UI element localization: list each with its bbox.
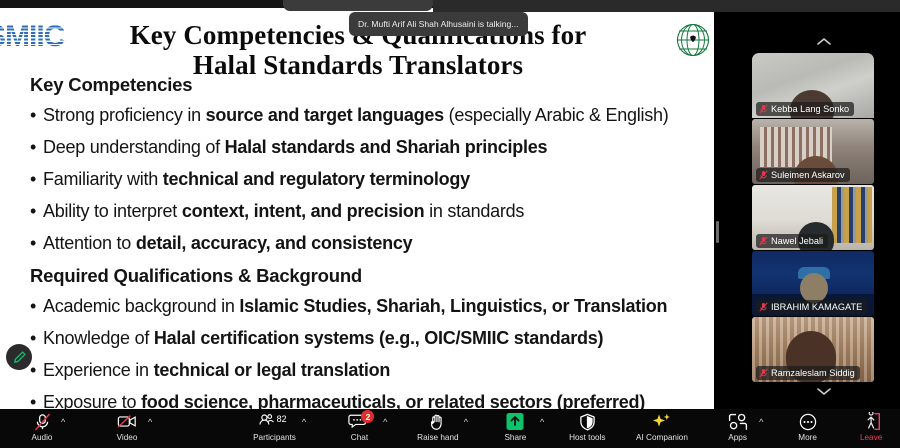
mic-muted-icon xyxy=(759,368,768,378)
slide-bullet: •Academic background in Islamic Studies,… xyxy=(30,296,714,317)
bullet-text: Deep understanding of xyxy=(43,137,225,157)
share-gutter xyxy=(714,8,747,409)
camera-off-icon xyxy=(117,412,137,431)
slide-bullet: •Familiarity with technical and regulato… xyxy=(30,169,714,190)
toolbar-button-host-tools[interactable]: Host tools xyxy=(553,409,622,448)
participant-name-badge: Ramzaleslam Siddig xyxy=(756,366,860,380)
participant-name-badge: IBRAHIM KAMAGATE xyxy=(756,300,867,314)
slide-section-heading-2: Required Qualifications & Background xyxy=(30,265,714,286)
slide-bullet: •Deep understanding of Halal standards a… xyxy=(30,137,714,158)
share-scrollbar[interactable] xyxy=(716,221,719,243)
presentation-slide: SMIIC Key Competencies & Qualifications … xyxy=(0,8,714,409)
participants-icon: 82 xyxy=(258,412,290,431)
bullet-emphasis: technical and regulatory terminology xyxy=(163,169,470,189)
participant-name-badge: Kebba Lang Sonko xyxy=(756,102,854,116)
shared-screen-area: SMIIC Key Competencies & Qualifications … xyxy=(0,8,747,409)
participant-tile[interactable]: IBRAHIM KAMAGATE xyxy=(752,251,874,316)
participant-name: Kebba Lang Sonko xyxy=(771,104,849,114)
participant-name-badge: Suleimen Askarov xyxy=(756,168,850,182)
chat-unread-badge: 2 xyxy=(361,410,374,423)
annotate-pencil-icon[interactable] xyxy=(6,344,32,370)
toolbar-label-ai-companion: AI Companion xyxy=(636,433,688,442)
sparkles-icon xyxy=(651,412,672,431)
oic-emblem-icon xyxy=(668,17,714,63)
raise-hand-icon xyxy=(429,412,446,431)
bullet-marker: • xyxy=(30,328,43,349)
bullet-text: Exposure to xyxy=(43,392,141,409)
toolbar-button-raise-hand[interactable]: Raise hand ^ xyxy=(398,409,478,448)
mic-muted-icon xyxy=(759,170,768,180)
participant-name: Ramzaleslam Siddig xyxy=(771,368,855,378)
bullet-emphasis: source and target languages xyxy=(206,105,444,125)
participant-name: Nawel Jebali xyxy=(771,236,823,246)
smiic-logo-text: SMIIC xyxy=(0,22,64,52)
slide-body: Key Competencies •Strong proficiency in … xyxy=(30,74,714,409)
toolbar-button-more[interactable]: More xyxy=(773,409,842,448)
participant-video-strip: Kebba Lang Sonko Suleimen Askarov xyxy=(747,8,900,409)
bullet-text-tail: in standards xyxy=(424,201,524,221)
bullet-marker: • xyxy=(30,392,43,409)
toolbar-label-apps: Apps xyxy=(728,433,747,442)
toolbar-button-participants[interactable]: 82 Participants ^ xyxy=(228,409,321,448)
participant-tile[interactable]: Nawel Jebali xyxy=(752,185,874,250)
bullet-emphasis: Halal standards and Shariah principles xyxy=(225,137,548,157)
raise-hand-caret-icon[interactable]: ^ xyxy=(464,417,468,427)
bullet-text: Knowledge of xyxy=(43,328,154,348)
participants-caret-icon[interactable]: ^ xyxy=(302,417,306,427)
participant-tile[interactable]: Ramzaleslam Siddig xyxy=(752,317,874,382)
slide-bullet: •Ability to interpret context, intent, a… xyxy=(30,201,714,222)
bullet-emphasis: detail, accuracy, and consistency xyxy=(136,233,413,253)
meeting-toolbar: Audio ^ Video ^ xyxy=(0,409,900,448)
slide-bullet: •Experience in technical or legal transl… xyxy=(30,360,714,381)
video-caret-icon[interactable]: ^ xyxy=(148,417,152,427)
toolbar-label-more: More xyxy=(798,433,817,442)
mic-muted-icon xyxy=(34,412,51,431)
bullet-marker: • xyxy=(30,105,43,126)
bullet-marker: • xyxy=(30,169,43,190)
apps-icon xyxy=(728,412,748,431)
mic-muted-icon xyxy=(759,236,768,246)
svg-text:82: 82 xyxy=(277,414,287,424)
active-speaker-tooltip: Dr. Mufti Arif Ali Shah Alhusaini is tal… xyxy=(349,12,528,36)
participant-name: Suleimen Askarov xyxy=(771,170,845,180)
participant-name-badge: Nawel Jebali xyxy=(756,234,828,248)
toolbar-button-apps[interactable]: Apps ^ xyxy=(702,409,773,448)
toolbar-button-ai-companion[interactable]: AI Companion xyxy=(622,409,702,448)
toolbar-button-chat[interactable]: 2 Chat ^ xyxy=(321,409,398,448)
participant-tile[interactable]: Suleimen Askarov xyxy=(752,119,874,184)
participant-tile[interactable]: Kebba Lang Sonko xyxy=(752,53,874,118)
slide-bullet: •Strong proficiency in source and target… xyxy=(30,105,714,126)
more-ellipsis-icon xyxy=(799,412,817,431)
toolbar-label-audio: Audio xyxy=(32,433,53,442)
bullet-text: Academic background in xyxy=(43,296,239,316)
share-screen-icon xyxy=(505,412,525,431)
mic-muted-icon xyxy=(759,302,768,312)
share-caret-icon[interactable]: ^ xyxy=(540,417,544,427)
toolbar-button-video[interactable]: Video ^ xyxy=(84,409,170,448)
chat-caret-icon[interactable]: ^ xyxy=(383,417,387,427)
bullet-marker: • xyxy=(30,201,43,222)
bullet-emphasis: Halal certification systems (e.g., OIC/S… xyxy=(154,328,603,348)
slide-bullet: •Knowledge of Halal certification system… xyxy=(30,328,714,349)
toolbar-button-audio[interactable]: Audio ^ xyxy=(0,409,84,448)
bullet-marker: • xyxy=(30,296,43,317)
bullet-text: Ability to interpret xyxy=(43,201,182,221)
apps-caret-icon[interactable]: ^ xyxy=(759,417,763,427)
bullet-text: Strong proficiency in xyxy=(43,105,206,125)
bullet-marker: • xyxy=(30,137,43,158)
slide-bullet: •Attention to detail, accuracy, and cons… xyxy=(30,233,714,254)
toolbar-label-participants: Participants xyxy=(253,433,296,442)
toolbar-button-share[interactable]: Share ^ xyxy=(478,409,553,448)
bullet-text-tail: (especially Arabic & English) xyxy=(444,105,669,125)
audio-caret-icon[interactable]: ^ xyxy=(61,417,65,427)
bullet-text: Attention to xyxy=(43,233,136,253)
bullet-emphasis: Islamic Studies, Shariah, Linguistics, o… xyxy=(239,296,667,316)
toolbar-label-leave: Leave xyxy=(860,433,882,442)
strip-scroll-down-button[interactable] xyxy=(747,380,900,402)
participant-name: IBRAHIM KAMAGATE xyxy=(771,302,862,312)
top-strip-left xyxy=(0,0,283,8)
leave-door-icon xyxy=(862,412,881,431)
bullet-emphasis: food science, pharmaceuticals, or relate… xyxy=(141,392,645,409)
toolbar-label-chat: Chat xyxy=(351,433,368,442)
bullet-marker: • xyxy=(30,360,43,381)
bullet-text: Experience in xyxy=(43,360,154,380)
bullet-emphasis: context, intent, and precision xyxy=(182,201,425,221)
toolbar-label-video: Video xyxy=(117,433,138,442)
slide-bullet: •Exposure to food science, pharmaceutica… xyxy=(30,392,714,409)
active-speaker-tooltip-text: Dr. Mufti Arif Ali Shah Alhusaini is tal… xyxy=(358,19,519,29)
shield-icon xyxy=(579,412,596,431)
top-strip-right xyxy=(433,0,900,12)
mic-muted-icon xyxy=(759,104,768,114)
bullet-emphasis: technical or legal translation xyxy=(154,360,391,380)
toolbar-button-leave[interactable]: Leave xyxy=(842,409,900,448)
collapsed-meeting-controls-pill[interactable] xyxy=(283,0,433,11)
chat-icon: 2 xyxy=(348,412,370,431)
bullet-text: Familiarity with xyxy=(43,169,163,189)
toolbar-label-host-tools: Host tools xyxy=(569,433,605,442)
toolbar-label-share: Share xyxy=(504,433,526,442)
bullet-marker: • xyxy=(30,233,43,254)
participant-tiles: Kebba Lang Sonko Suleimen Askarov xyxy=(752,53,874,383)
strip-scroll-up-button[interactable] xyxy=(747,30,900,52)
toolbar-label-raise-hand: Raise hand xyxy=(417,433,458,442)
slide-section-heading-1: Key Competencies xyxy=(30,74,714,95)
zoom-meeting-window: SMIIC Key Competencies & Qualifications … xyxy=(0,0,900,448)
